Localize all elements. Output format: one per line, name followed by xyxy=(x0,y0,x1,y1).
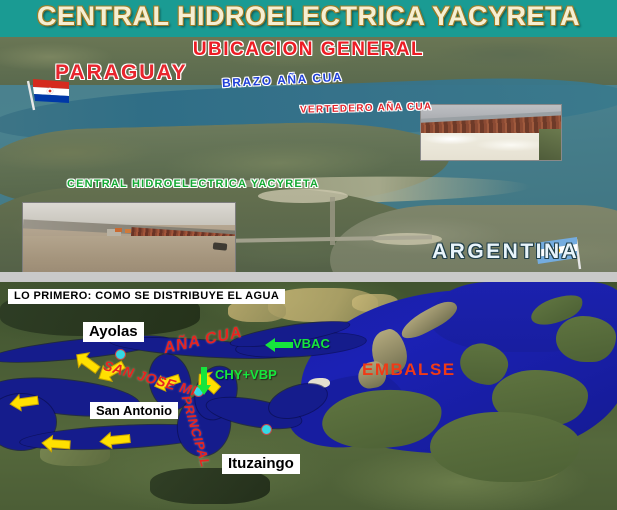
label-central-hidroelectrica-yacyreta: CENTRAL HIDROELECTRICA YACYRETA xyxy=(67,178,319,190)
flow-arrow-ayolas-inflow xyxy=(72,352,104,379)
distribucion-heading: LO PRIMERO: COMO SE DISTRIBUYE EL AGUA xyxy=(8,289,285,304)
city-label-san-antonio: San Antonio xyxy=(90,402,178,419)
slide-title-bar: CENTRAL HIDROELECTRICA YACYRETA xyxy=(0,0,617,37)
panel-divider xyxy=(0,272,617,282)
page-title: CENTRAL HIDROELECTRICA YACYRETA xyxy=(0,1,617,32)
photo-muddy-water xyxy=(23,236,235,272)
label-embalse: EMBALSE xyxy=(362,360,456,380)
photo-boat xyxy=(213,242,228,250)
central-yacyreta-dam-photo xyxy=(22,202,236,272)
ubicacion-general-panel: UBICACION GENERAL PARAGUAY BRAZO AÑA CUA… xyxy=(0,37,617,272)
photo-crane-marker-b xyxy=(125,229,131,233)
reservoir-headland-b xyxy=(556,316,616,362)
photo-crane-marker-a xyxy=(115,228,122,232)
distribucion-del-agua-panel: LO PRIMERO: COMO SE DISTRIBUYE EL AGUA A… xyxy=(0,282,617,510)
flow-arrow-south-loop xyxy=(98,430,134,455)
flow-label-vbac: VBAC xyxy=(293,336,330,351)
flow-arrow-southwest xyxy=(40,434,74,459)
yacyreta-presentation-slide: CENTRAL HIDROELECTRICA YACYRETA xyxy=(0,0,617,510)
flow-label-chy-vbp: CHY+VBP xyxy=(215,367,277,382)
reservoir-south-land xyxy=(430,412,580,482)
photo-river-bank xyxy=(539,129,561,160)
city-label-ituzaingo: Ituzaingo xyxy=(222,454,300,474)
city-label-ayolas: Ayolas xyxy=(83,322,144,342)
dam-spur-line xyxy=(330,197,335,245)
ana-cua-spillway-photo xyxy=(420,104,562,161)
arrow-down-green-chy-vbp xyxy=(196,366,212,401)
label-argentina: ARGENTINA xyxy=(432,240,579,264)
label-paraguay: PARAGUAY xyxy=(55,61,188,85)
ubicacion-general-heading: UBICACION GENERAL xyxy=(0,39,617,61)
arrow-left-green-vbac xyxy=(263,337,295,358)
flow-arrow-west-outer xyxy=(8,392,42,417)
city-dot-ituzaingo xyxy=(261,424,272,435)
